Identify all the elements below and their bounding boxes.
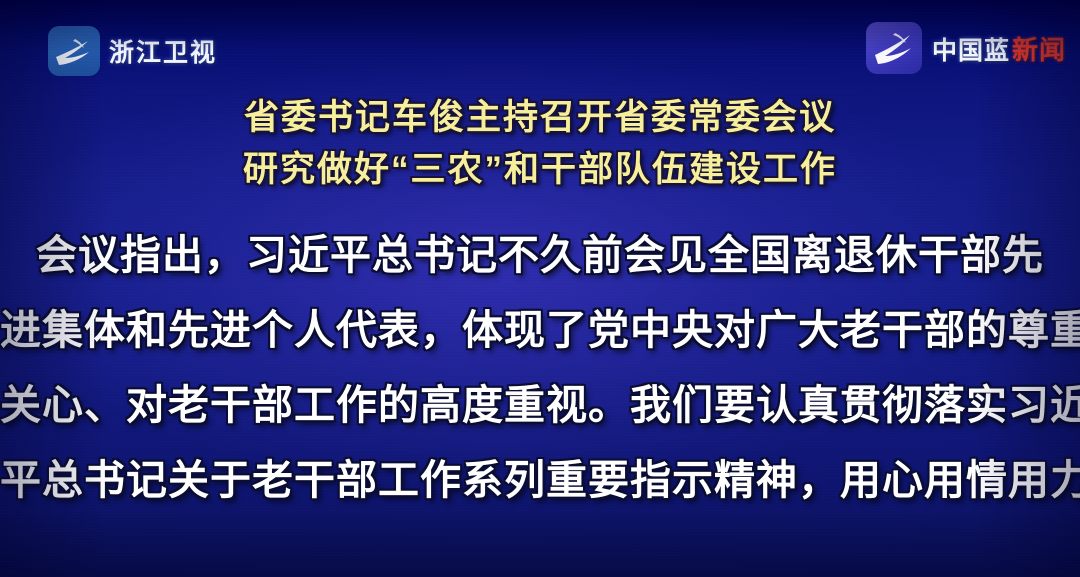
program-wordmark-accent: 新闻 xyxy=(1012,30,1066,67)
channel-logo: 浙江卫视 xyxy=(48,26,217,76)
body-line-1: 会议指出，习近平总书记不久前会见全国离退休干部先 xyxy=(0,218,1080,293)
channel-wordmark: 浙江卫视 xyxy=(109,33,217,69)
headline-line-2: 研究做好“三农”和干部队伍建设工作 xyxy=(0,144,1080,196)
zhejiang-tv-z-mark-icon xyxy=(48,26,100,76)
headline-line-1: 省委书记车俊主持召开省委常委会议 xyxy=(0,92,1080,144)
headline-block: 省委书记车俊主持召开省委常委会议 研究做好“三农”和干部队伍建设工作 xyxy=(0,92,1080,196)
channel-wordmark-text: 浙江卫视 xyxy=(109,33,217,69)
china-blue-z-mark-icon xyxy=(866,22,922,74)
program-wordmark: 中国蓝 新闻 xyxy=(932,30,1066,67)
broadcast-screen: 浙江卫视 中国蓝 新闻 省委书记车俊主持召开省委常委会议 研究做好“三农”和干部… xyxy=(0,0,1080,577)
body-copy-block: 会议指出，习近平总书记不久前会见全国离退休干部先 进集体和先进个人代表，体现了党… xyxy=(0,218,1080,518)
body-line-4: 平总书记关于老干部工作系列重要指示精神，用心用情用力 xyxy=(0,443,1080,518)
body-line-2: 进集体和先进个人代表，体现了党中央对广大老干部的尊重 xyxy=(0,293,1080,368)
program-logo: 中国蓝 新闻 xyxy=(866,22,1066,74)
program-wordmark-primary: 中国蓝 xyxy=(932,31,1010,67)
body-line-3: 关心、对老干部工作的高度重视。我们要认真贯彻落实习近 xyxy=(0,368,1080,443)
